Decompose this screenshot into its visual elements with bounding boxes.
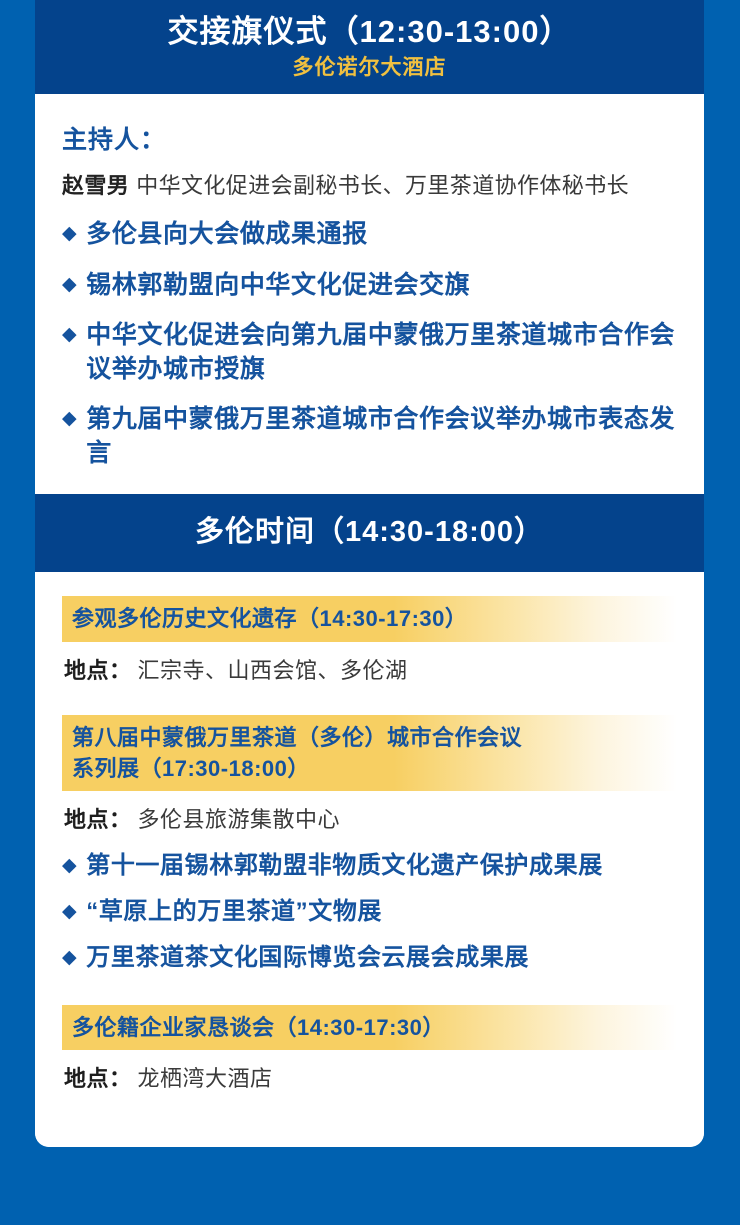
place-value: 多伦县旅游集散中心 xyxy=(138,807,341,832)
list-item-label: 中华文化促进会向第九届中蒙俄万里茶道城市合作会议举办城市授旗 xyxy=(86,319,677,386)
diamond-bullet-icon: ◆ xyxy=(62,403,77,435)
diamond-bullet-icon: ◆ xyxy=(62,218,77,250)
host-line: 赵雪男中华文化促进会副秘书长、万里茶道协作体秘书长 xyxy=(62,168,677,200)
event-headline: 多伦籍企业家恳谈会（14:30-17:30） xyxy=(62,1005,677,1050)
place-value: 汇宗寺、山西会馆、多伦湖 xyxy=(138,658,408,683)
list-item: ◆ 万里茶道茶文化国际博览会云展会成果展 xyxy=(62,942,677,974)
section1-body: 主持人： 赵雪男中华文化促进会副秘书长、万里茶道协作体秘书长 ◆ 多伦县向大会做… xyxy=(35,94,704,494)
place-value: 龙栖湾大酒店 xyxy=(138,1066,273,1091)
list-item: ◆ 第九届中蒙俄万里茶道城市合作会议举办城市表态发言 xyxy=(62,403,677,470)
exhibit-list: ◆ 第十一届锡林郭勒盟非物质文化遗产保护成果展 ◆ “草原上的万里茶道”文物展 … xyxy=(62,850,677,974)
diamond-bullet-icon: ◆ xyxy=(62,850,77,882)
section1-agenda-list: ◆ 多伦县向大会做成果通报 ◆ 锡林郭勒盟向中华文化促进会交旗 ◆ 中华文化促进… xyxy=(62,218,677,470)
event-headline: 第八届中蒙俄万里茶道（多伦）城市合作会议 系列展（17:30-18:00） xyxy=(62,715,677,791)
event-headline-line: 参观多伦历史文化遗存（14:30-17:30） xyxy=(72,603,677,634)
list-item-label: 万里茶道茶文化国际博览会云展会成果展 xyxy=(86,942,677,974)
diamond-bullet-icon: ◆ xyxy=(62,942,77,974)
list-item: ◆ 多伦县向大会做成果通报 xyxy=(62,218,677,252)
diamond-bullet-icon: ◆ xyxy=(62,319,77,351)
spacer xyxy=(62,701,677,715)
host-name: 赵雪男 xyxy=(62,173,129,198)
content-card: 交接旗仪式（12:30-13:00） 多伦诺尔大酒店 主持人： 赵雪男中华文化促… xyxy=(35,0,704,1147)
event-place: 地点：汇宗寺、山西会馆、多伦湖 xyxy=(62,653,677,685)
diamond-bullet-icon: ◆ xyxy=(62,896,77,928)
section2-title: 多伦时间（14:30-18:00） xyxy=(35,515,704,550)
section2-body: 参观多伦历史文化遗存（14:30-17:30） 地点：汇宗寺、山西会馆、多伦湖 … xyxy=(35,572,704,1146)
list-item-label: 多伦县向大会做成果通报 xyxy=(86,218,677,252)
event-place: 地点：龙栖湾大酒店 xyxy=(62,1061,677,1093)
list-item: ◆ 第十一届锡林郭勒盟非物质文化遗产保护成果展 xyxy=(62,850,677,882)
host-title: 中华文化促进会副秘书长、万里茶道协作体秘书长 xyxy=(136,173,629,198)
section1-title: 交接旗仪式（12:30-13:00） xyxy=(35,13,704,51)
list-item: ◆ 中华文化促进会向第九届中蒙俄万里茶道城市合作会议举办城市授旗 xyxy=(62,319,677,386)
spacer xyxy=(62,991,677,1005)
section1-banner: 交接旗仪式（12:30-13:00） 多伦诺尔大酒店 xyxy=(35,0,704,94)
list-item-label: 锡林郭勒盟向中华文化促进会交旗 xyxy=(86,269,677,303)
list-item-label: 第九届中蒙俄万里茶道城市合作会议举办城市表态发言 xyxy=(86,403,677,470)
host-label: 主持人： xyxy=(62,120,677,156)
list-item: ◆ “草原上的万里茶道”文物展 xyxy=(62,896,677,928)
diamond-bullet-icon: ◆ xyxy=(62,269,77,301)
event-headline: 参观多伦历史文化遗存（14:30-17:30） xyxy=(62,596,677,641)
event-block: 多伦籍企业家恳谈会（14:30-17:30） 地点：龙栖湾大酒店 xyxy=(62,1005,677,1093)
place-label: 地点： xyxy=(64,807,132,832)
section2-banner: 多伦时间（14:30-18:00） xyxy=(35,494,704,572)
place-label: 地点： xyxy=(64,1066,132,1091)
list-item-label: “草原上的万里茶道”文物展 xyxy=(86,896,677,928)
poster-root: 交接旗仪式（12:30-13:00） 多伦诺尔大酒店 主持人： 赵雪男中华文化促… xyxy=(0,0,740,1225)
event-headline-line: 多伦籍企业家恳谈会（14:30-17:30） xyxy=(72,1012,677,1043)
event-headline-line: 系列展（17:30-18:00） xyxy=(72,753,677,784)
event-headline-line: 第八届中蒙俄万里茶道（多伦）城市合作会议 xyxy=(72,722,677,753)
list-item-label: 第十一届锡林郭勒盟非物质文化遗产保护成果展 xyxy=(86,850,677,882)
section1-venue: 多伦诺尔大酒店 xyxy=(35,55,704,80)
place-label: 地点： xyxy=(64,658,132,683)
list-item: ◆ 锡林郭勒盟向中华文化促进会交旗 xyxy=(62,269,677,303)
event-block: 参观多伦历史文化遗存（14:30-17:30） 地点：汇宗寺、山西会馆、多伦湖 xyxy=(62,596,677,684)
event-place: 地点：多伦县旅游集散中心 xyxy=(62,802,677,834)
event-block: 第八届中蒙俄万里茶道（多伦）城市合作会议 系列展（17:30-18:00） 地点… xyxy=(62,715,677,975)
